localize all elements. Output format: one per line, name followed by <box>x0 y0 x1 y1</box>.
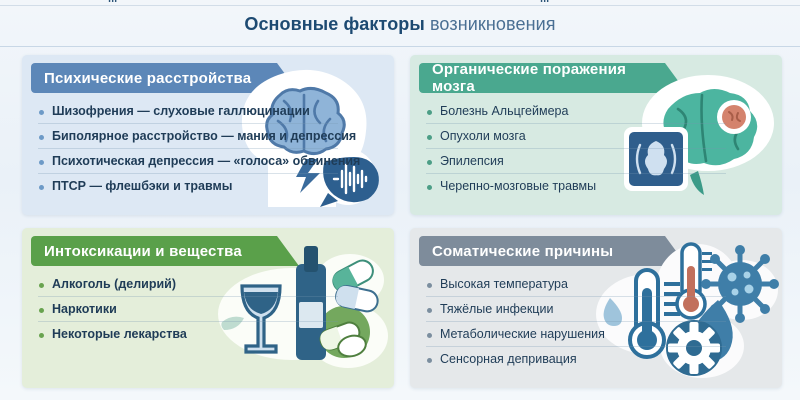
card-header-organic-brain-lesions: Органические поражения мозга <box>419 63 665 93</box>
card-header-intoxications-substances: Интоксикации и вещества <box>31 236 277 266</box>
cut-off-top-text-row: ||| ||| <box>0 0 800 2</box>
card-title: Интоксикации и вещества <box>44 243 242 260</box>
list-item: Черепно-мозговые травмы <box>426 173 726 198</box>
list-item: Психотическая депрессия — «голоса» обвин… <box>38 148 338 173</box>
list-item: Эпилепсия <box>426 148 726 173</box>
title-divider <box>0 46 800 47</box>
page-title-strong: Основные факторы <box>244 14 425 34</box>
card-somatic-causes: Соматические причины Высокая температура… <box>410 228 782 388</box>
card-header-somatic-causes: Соматические причины <box>419 236 665 266</box>
card-title: Органические поражения мозга <box>432 61 665 95</box>
card-mental-disorders: Психические расстройства Шизофрения — сл… <box>22 55 394 215</box>
factor-card-grid: Психические расстройства Шизофрения — сл… <box>22 55 782 388</box>
list-item: Некоторые лекарства <box>38 321 338 346</box>
list-item: Опухоли мозга <box>426 123 726 148</box>
top-divider <box>0 5 800 6</box>
list-item: Метаболические нарушения <box>426 321 726 346</box>
card-list-somatic-causes: Высокая температура Тяжёлые инфекции Мет… <box>426 272 726 371</box>
cut-off-fragment-left: ||| <box>108 0 117 2</box>
list-item: Шизофрения — слуховые галлюцинации <box>38 99 338 123</box>
list-item: Наркотики <box>38 296 338 321</box>
list-item: Высокая температура <box>426 272 726 296</box>
cut-off-fragment-right: ||| <box>540 0 549 2</box>
card-header-mental-disorders: Психические расстройства <box>31 63 277 93</box>
card-title: Психические расстройства <box>44 70 251 87</box>
page-title: Основные факторы возникновения <box>0 14 800 35</box>
card-intoxications-substances: Интоксикации и вещества Алкоголь (делири… <box>22 228 394 388</box>
card-title: Соматические причины <box>432 243 613 260</box>
card-organic-brain-lesions: Органические поражения мозга Болезнь Аль… <box>410 55 782 215</box>
list-item: Сенсорная депривация <box>426 346 726 371</box>
list-item: Алкоголь (делирий) <box>38 272 338 296</box>
card-list-organic-brain-lesions: Болезнь Альцгеймера Опухоли мозга Эпилеп… <box>426 99 726 198</box>
page-title-rest: возникновения <box>430 14 556 34</box>
list-item: Болезнь Альцгеймера <box>426 99 726 123</box>
list-item: Тяжёлые инфекции <box>426 296 726 321</box>
card-list-mental-disorders: Шизофрения — слуховые галлюцинации Бипол… <box>38 99 338 198</box>
list-item: Биполярное расстройство — мания и депрес… <box>38 123 338 148</box>
card-list-intoxications-substances: Алкоголь (делирий) Наркотики Некоторые л… <box>38 272 338 346</box>
list-item: ПТСР — флешбэки и травмы <box>38 173 338 198</box>
